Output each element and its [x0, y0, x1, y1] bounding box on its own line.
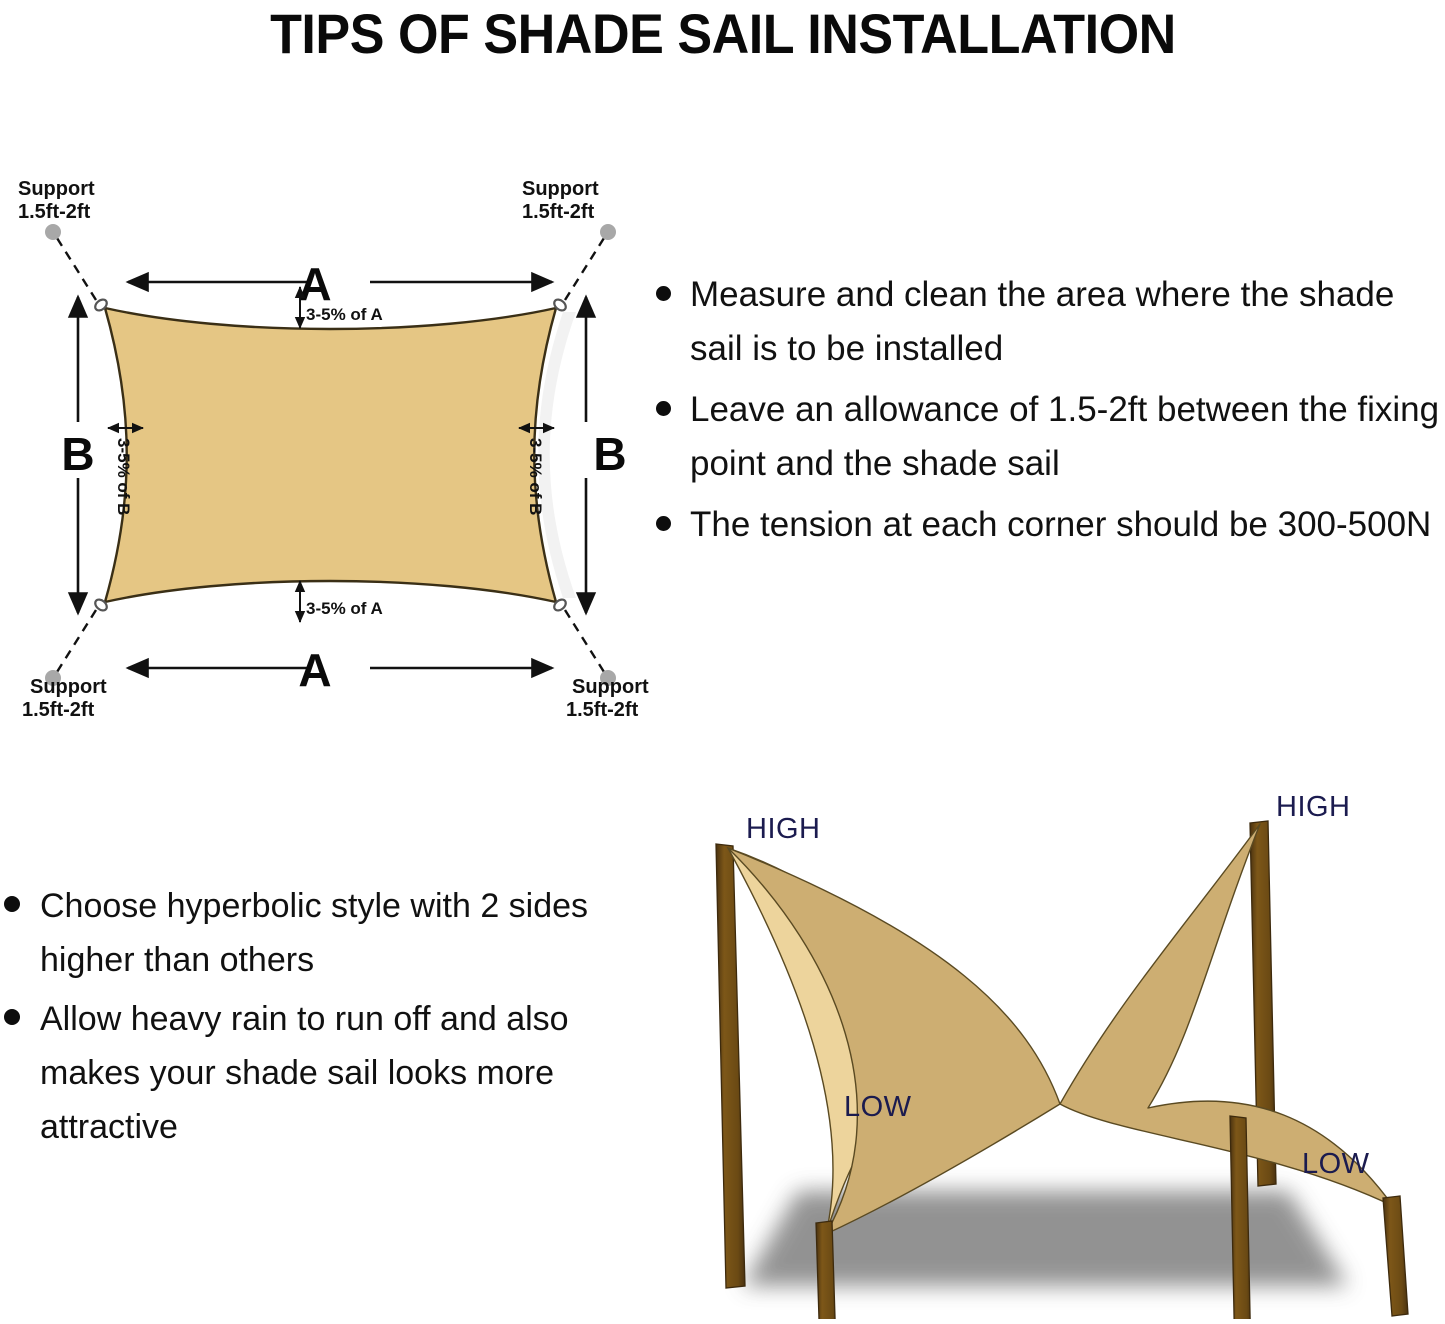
support-label-line2: 1.5ft-2ft: [522, 201, 595, 223]
label-high-left: HIGH: [746, 813, 821, 845]
support-label-line1: Support: [30, 676, 107, 698]
label-low-left: LOW: [844, 1091, 912, 1123]
page-title: TIPS OF SHADE SAIL INSTALLATION: [270, 6, 1176, 62]
support-dot-top-left: [45, 224, 61, 240]
label-low-right: LOW: [1302, 1148, 1370, 1180]
dimension-label-A-top: A: [298, 258, 331, 310]
bullet-dot-icon: [656, 286, 671, 301]
dimension-label-B-left: B: [61, 428, 94, 480]
installation-tips-upper: Measure and clean the area where the sha…: [648, 268, 1445, 668]
support-label-top-left: Support 1.5ft-2ft: [18, 178, 95, 223]
tip-text: Allow heavy rain to run off and also mak…: [40, 993, 625, 1154]
support-label-line2: 1.5ft-2ft: [566, 699, 639, 721]
dimension-diagram: Support 1.5ft-2ft Support 1.5ft-2ft Supp…: [0, 160, 665, 735]
list-item: Leave an allowance of 1.5-2ft between th…: [648, 383, 1445, 490]
tips-upper-list: Measure and clean the area where the sha…: [648, 268, 1445, 552]
title-bar: TIPS OF SHADE SAIL INSTALLATION: [0, 0, 1445, 68]
tip-text: The tension at each corner should be 300…: [690, 498, 1445, 552]
dimension-label-B-right: B: [593, 428, 626, 480]
curve-depth-label-left: 3-5% of B: [114, 438, 133, 515]
support-label-line1: Support: [522, 178, 599, 200]
label-high-right: HIGH: [1276, 791, 1351, 823]
support-post-rear-left: [716, 844, 745, 1288]
dimension-label-A-bottom: A: [298, 644, 331, 696]
tips-lower-list: Choose hyperbolic style with 2 sides hig…: [0, 880, 625, 1155]
tip-text: Measure and clean the area where the sha…: [690, 268, 1445, 375]
support-label-line1: Support: [18, 178, 95, 200]
hyperbolic-shade-sail-illustration: HIGH HIGH LOW LOW: [648, 786, 1445, 1319]
support-post-front-right: [1383, 1196, 1408, 1316]
bullet-dot-icon: [4, 1009, 20, 1025]
tip-text: Choose hyperbolic style with 2 sides hig…: [40, 880, 625, 987]
bullet-dot-icon: [656, 516, 671, 531]
bullet-dot-icon: [656, 401, 671, 416]
installation-tips-lower: Choose hyperbolic style with 2 sides hig…: [0, 880, 625, 1210]
support-dot-top-right: [600, 224, 616, 240]
list-item: Measure and clean the area where the sha…: [648, 268, 1445, 375]
list-item: The tension at each corner should be 300…: [648, 498, 1445, 552]
support-label-line2: 1.5ft-2ft: [22, 699, 95, 721]
curve-depth-label-bottom: 3-5% of A: [306, 599, 383, 618]
shade-sail-shape: [105, 308, 556, 602]
list-item: Choose hyperbolic style with 2 sides hig…: [0, 880, 625, 987]
list-item: Allow heavy rain to run off and also mak…: [0, 993, 625, 1154]
tip-text: Leave an allowance of 1.5-2ft between th…: [690, 383, 1445, 490]
support-label-top-right: Support 1.5ft-2ft: [522, 178, 599, 223]
curve-depth-label-top: 3-5% of A: [306, 305, 383, 324]
support-label-line2: 1.5ft-2ft: [18, 201, 91, 223]
support-label-bottom-right: Support 1.5ft-2ft: [566, 676, 649, 721]
support-label-bottom-left: Support 1.5ft-2ft: [22, 676, 107, 721]
bullet-dot-icon: [4, 896, 20, 912]
curve-depth-label-right: 3-5% of B: [526, 438, 545, 515]
support-label-line1: Support: [572, 676, 649, 698]
